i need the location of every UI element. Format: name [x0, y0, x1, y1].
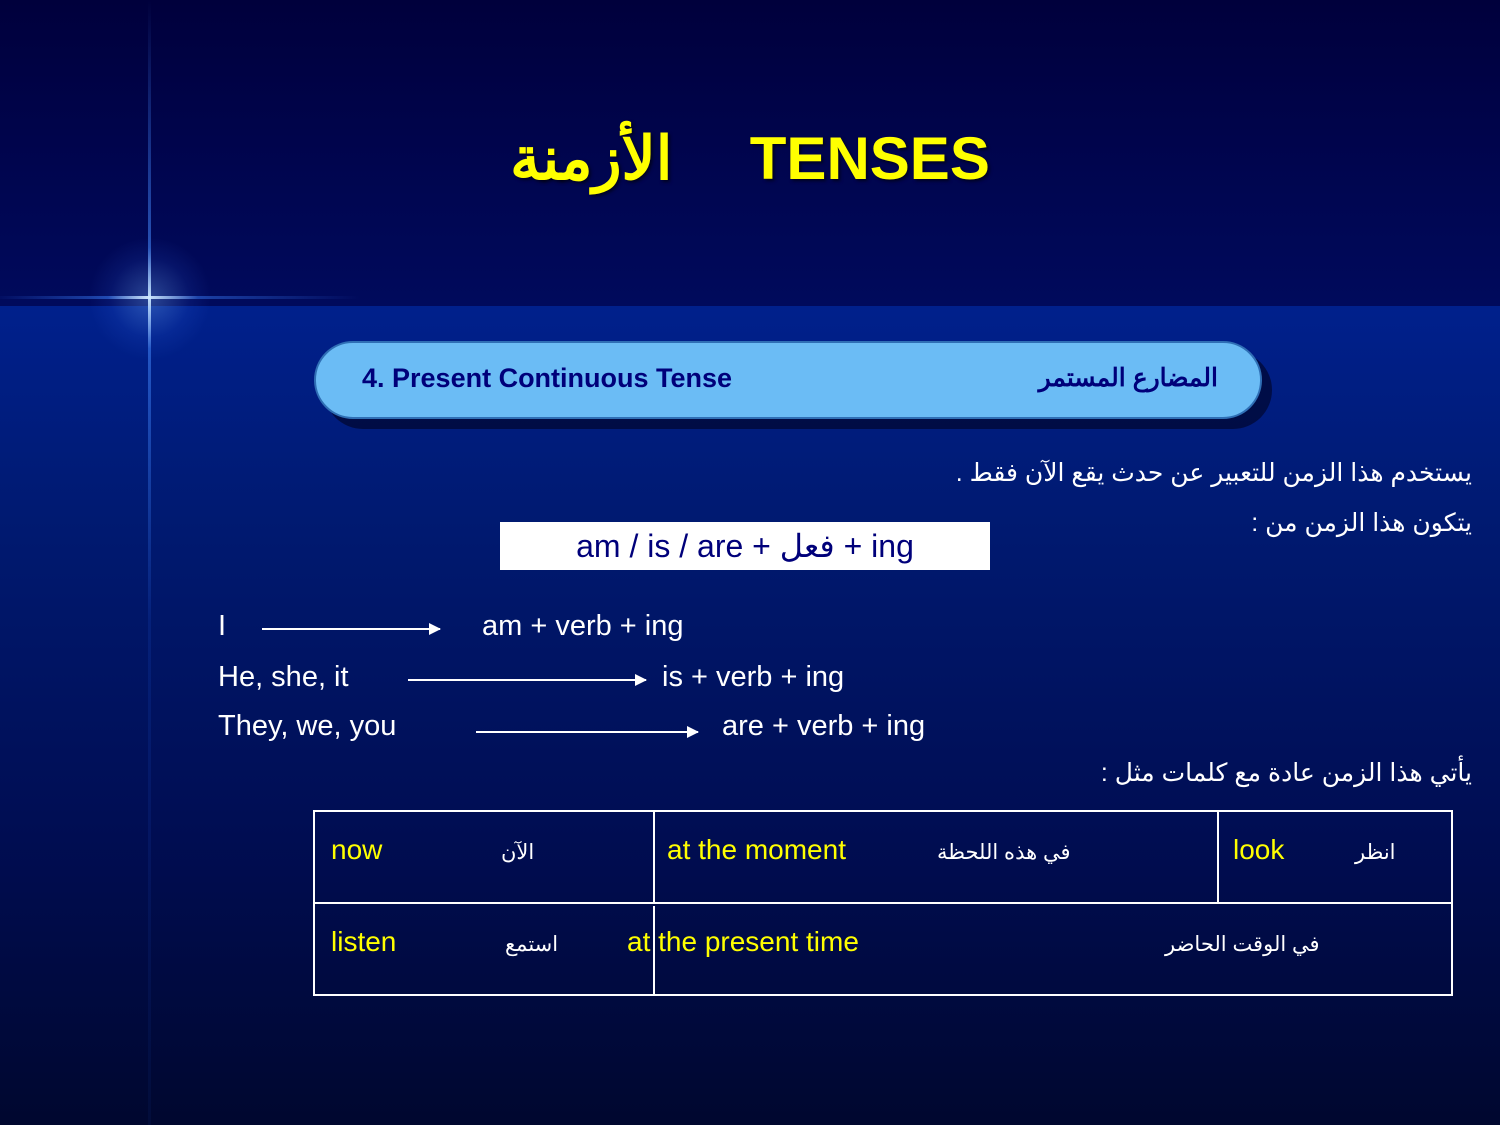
pronoun-subject-3: They, we, you — [218, 710, 396, 743]
pronoun-form-1: am + verb + ing — [482, 610, 684, 643]
table-row: now الآن at the moment في هذه اللحظة loo… — [315, 812, 1451, 902]
pronoun-form-3: are + verb + ing — [722, 710, 925, 743]
slide: TENSES الأزمنة 4. Present Continuous Ten… — [0, 0, 1500, 1125]
table-cell-arabic: استمع — [505, 932, 558, 957]
arrow-icon-1 — [262, 628, 440, 630]
pronoun-form-2: is + verb + ing — [662, 661, 844, 694]
arrow-icon-2 — [408, 679, 646, 681]
pronoun-subject-2: He, she, it — [218, 661, 349, 694]
table-divider — [1217, 812, 1219, 902]
formula-text: am / is / are + فعل + ing — [576, 527, 914, 565]
section-heading-english: 4. Present Continuous Tense — [362, 363, 732, 394]
table-cell-arabic: الآن — [501, 840, 534, 865]
table-cell-english: at the present time — [627, 926, 859, 958]
table-cell-arabic: في هذه اللحظة — [937, 840, 1071, 865]
page-title: TENSES الأزمنة — [0, 124, 1500, 194]
arrow-icon-3 — [476, 731, 698, 733]
table-cell-english: now — [331, 834, 382, 866]
page-title-arabic: الأزمنة — [510, 125, 672, 192]
table-cell-english: listen — [331, 926, 396, 958]
table-row: listen استمع at the present time في الوق… — [315, 902, 1451, 994]
table-cell-arabic: في الوقت الحاضر — [1165, 932, 1320, 957]
table-divider — [653, 812, 655, 902]
decorative-horizontal-line — [0, 296, 360, 299]
formula-box: am / is / are + فعل + ing — [500, 522, 990, 570]
table-cell-english: at the moment — [667, 834, 846, 866]
section-heading-arabic: المضارع المستمر — [1039, 363, 1218, 393]
signal-words-note: يأتي هذا الزمن عادة مع كلمات مثل : — [1101, 758, 1472, 788]
table-cell-english: look — [1233, 834, 1284, 866]
usage-note: يستخدم هذا الزمن للتعبير عن حدث يقع الآن… — [956, 458, 1472, 488]
page-title-english: TENSES — [750, 125, 990, 192]
signal-words-table: now الآن at the moment في هذه اللحظة loo… — [313, 810, 1453, 996]
section-heading: 4. Present Continuous Tense المضارع المس… — [314, 341, 1262, 419]
table-cell-arabic: انظر — [1355, 840, 1396, 865]
pronoun-subject-1: I — [218, 610, 226, 643]
composition-note: يتكون هذا الزمن من : — [1251, 508, 1472, 538]
